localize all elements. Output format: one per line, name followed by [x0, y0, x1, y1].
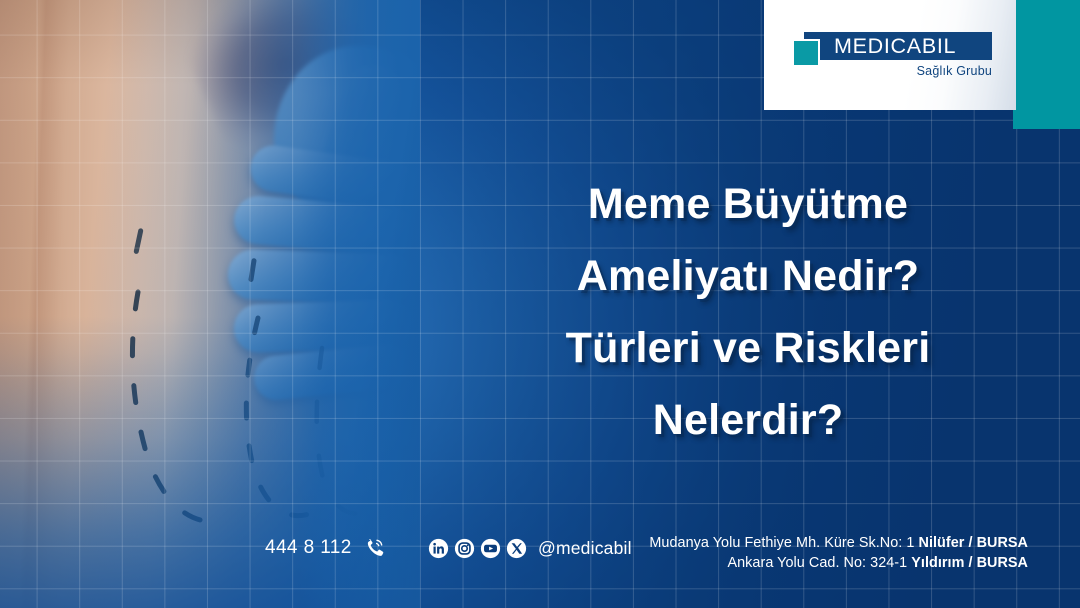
address-line-2: Ankara Yolu Cad. No: 324-1 Yıldırım / BU… [649, 554, 1028, 574]
social-links[interactable]: @medicabil [428, 537, 632, 559]
youtube-icon[interactable] [480, 538, 501, 559]
address-line-2-street: Ankara Yolu Cad. No: 324-1 [727, 555, 911, 571]
headline-line-3: Türleri ve Riskleri [448, 312, 1048, 384]
teal-accent-block [1013, 0, 1080, 129]
social-handle: @medicabil [538, 537, 632, 559]
headline-line-4: Nelerdir? [448, 384, 1048, 456]
logo-card[interactable]: MEDICABIL Sağlık Grubu [764, 0, 1016, 110]
teal-square-icon [792, 39, 820, 67]
logo-wordmark: MEDICABIL [834, 33, 956, 59]
phone-call-icon [363, 537, 385, 559]
x-twitter-icon[interactable] [506, 538, 527, 559]
address-line-1-district: Nilüfer / BURSA [919, 535, 1029, 551]
headline-line-2: Ameliyatı Nedir? [448, 240, 1048, 312]
headline-line-1: Meme Büyütme [448, 168, 1048, 240]
promotional-banner: MEDICABIL Sağlık Grubu Meme Büyütme Amel… [0, 0, 1080, 608]
logo-lockup: MEDICABIL Sağlık Grubu [792, 30, 992, 86]
linkedin-icon[interactable] [428, 538, 449, 559]
address-block: Mudanya Yolu Fethiye Mh. Küre Sk.No: 1 N… [649, 534, 1028, 573]
address-line-1: Mudanya Yolu Fethiye Mh. Küre Sk.No: 1 N… [649, 534, 1028, 554]
phone-contact[interactable]: 444 8 112 [265, 536, 385, 560]
logo-tagline: Sağlık Grubu [917, 63, 992, 79]
instagram-icon[interactable] [454, 538, 475, 559]
address-line-1-street: Mudanya Yolu Fethiye Mh. Küre Sk.No: 1 [649, 535, 918, 551]
page-title: Meme Büyütme Ameliyatı Nedir? Türleri ve… [448, 168, 1048, 456]
address-line-2-district: Yıldırım / BURSA [911, 555, 1028, 571]
phone-number: 444 8 112 [265, 536, 352, 560]
